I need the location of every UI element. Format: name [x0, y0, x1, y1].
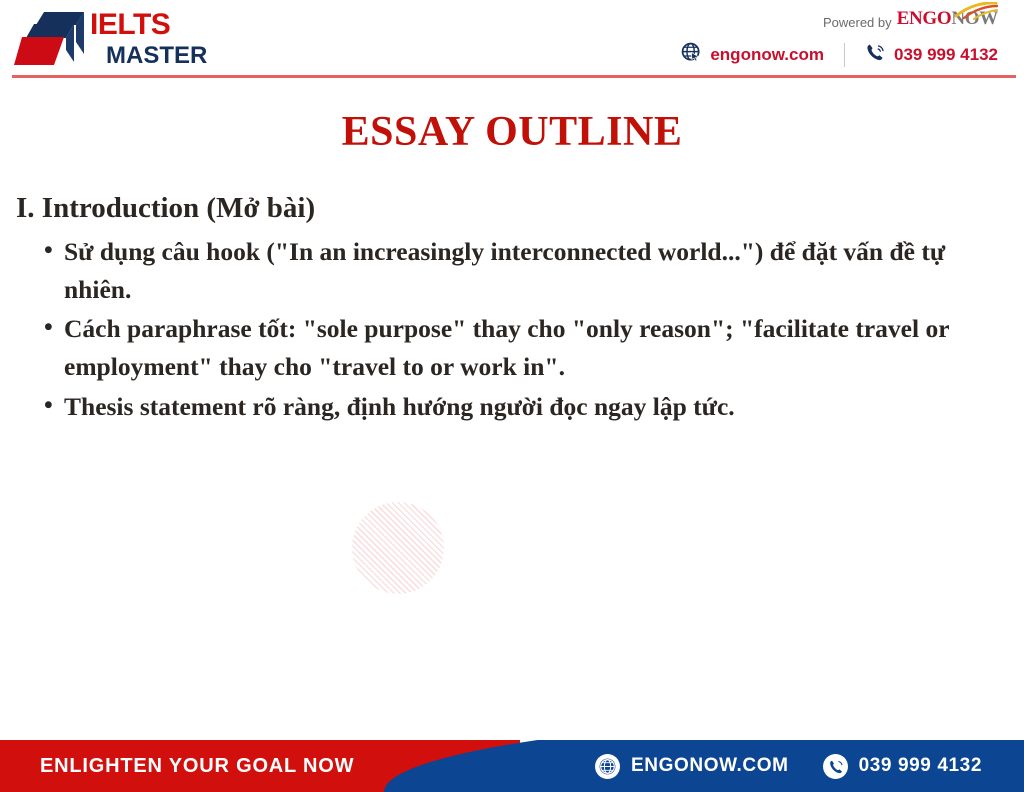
stacked-books-icon	[14, 10, 88, 68]
powered-by-block: Powered by ENGONOW	[823, 8, 998, 30]
header-contact-website[interactable]: engonow.com	[681, 42, 824, 68]
logo-wordmark: IELTS MASTER	[90, 10, 207, 68]
powered-by-label: Powered by	[823, 15, 892, 30]
list-item: Thesis statement rõ ràng, định hướng ngư…	[16, 388, 1008, 426]
header-contact-phone[interactable]: 039 999 4132	[865, 42, 998, 68]
slide-canvas: IELTS MASTER Powered by ENGONOW	[0, 0, 1024, 792]
header-website-text: engonow.com	[710, 45, 824, 65]
logo-line-master: MASTER	[90, 44, 207, 68]
engonow-red-part: ENGO	[897, 8, 952, 29]
header-phone-text: 039 999 4132	[894, 45, 998, 65]
footer-tagline: ENLIGHTEN YOUR GOAL NOW	[40, 740, 354, 792]
swoosh-icon	[954, 2, 998, 20]
phone-icon	[823, 754, 848, 779]
slide-content: I. Introduction (Mở bài) Sử dụng câu hoo…	[16, 192, 1008, 428]
globe-icon	[595, 754, 620, 779]
introduction-bullet-list: Sử dụng câu hook ("In an increasingly in…	[16, 233, 1008, 426]
header-divider-rule	[12, 75, 1016, 78]
list-item: Cách paraphrase tốt: "sole purpose" thay…	[16, 310, 1008, 385]
slide-footer: ENLIGHTEN YOUR GOAL NOW ENGONOW.COM	[0, 740, 1024, 792]
list-item: Sử dụng câu hook ("In an increasingly in…	[16, 233, 1008, 308]
footer-contact-phone[interactable]: 039 999 4132	[823, 754, 982, 779]
header-contact-row: engonow.com 039 999 4132	[681, 42, 998, 68]
footer-phone-text: 039 999 4132	[859, 755, 982, 777]
section-heading-introduction: I. Introduction (Mở bài)	[16, 192, 1008, 225]
footer-website-text: ENGONOW.COM	[631, 755, 789, 777]
striped-circle-watermark	[352, 502, 444, 594]
slide-header: IELTS MASTER Powered by ENGONOW	[0, 0, 1024, 80]
footer-contact-website[interactable]: ENGONOW.COM	[595, 754, 789, 779]
phone-icon	[865, 42, 886, 68]
page-title: ESSAY OUTLINE	[0, 108, 1024, 156]
header-contact-divider	[844, 43, 845, 67]
brand-logo: IELTS MASTER	[14, 8, 207, 70]
logo-line-ielts: IELTS	[90, 10, 207, 40]
globe-cursor-icon	[681, 42, 702, 68]
footer-contact-group: ENGONOW.COM 039 999 4132	[595, 740, 982, 792]
